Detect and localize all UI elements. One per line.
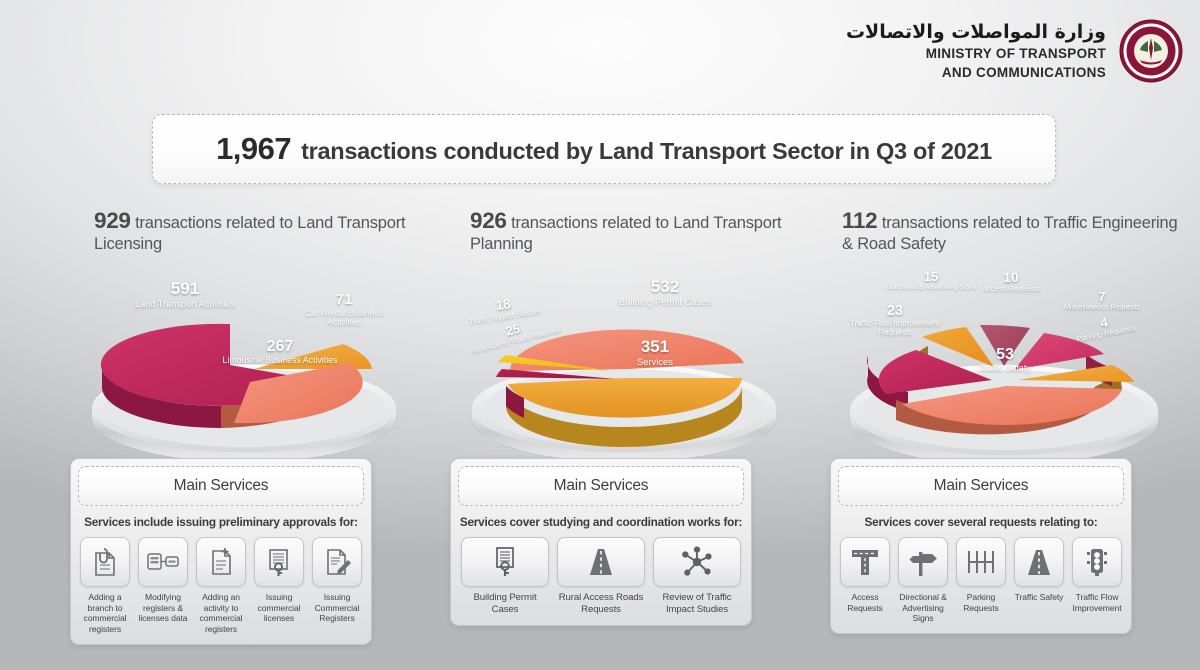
main-services-header: Main Services [458, 466, 744, 506]
qatar-state-emblem-icon [1118, 18, 1184, 84]
building-permit-icon [461, 537, 549, 587]
road-icon [557, 537, 645, 587]
service-item[interactable]: Traffic Flow Improvement [1070, 537, 1124, 624]
document-clip-icon [80, 537, 130, 587]
section-land-transport-planning: 926 transactions related to Land Transpo… [448, 208, 800, 458]
main-services-header: Main Services [78, 466, 364, 506]
traffic-light-icon [1072, 537, 1122, 587]
main-services-panel-planning: Main Services Services cover studying an… [450, 458, 752, 626]
t-junction-icon [840, 537, 890, 587]
service-caption: Modifying registers & licenses data [136, 592, 190, 624]
main-title-banner: 1,967 transactions conducted by Land Tra… [152, 114, 1056, 184]
service-item[interactable]: Adding an activity to commercial registe… [194, 537, 248, 635]
ministry-name-arabic: وزارة المواصلات والاتصالات [846, 22, 1106, 44]
section-heading: 926 transactions related to Land Transpo… [448, 208, 800, 262]
ministry-wordmark: وزارة المواصلات والاتصالات MINISTRY OF T… [846, 22, 1106, 81]
main-services-item-list: Building Permit Cases Rural Access Roads… [458, 537, 744, 616]
service-caption: Adding a branch to commercial registers [78, 592, 132, 635]
main-services-item-list: Adding a branch to commercial registers … [78, 537, 364, 635]
service-caption: Traffic Safety [1012, 592, 1066, 603]
data-edit-icon [138, 537, 188, 587]
section-count: 926 [470, 208, 507, 233]
service-caption: Directional & Advertising Signs [896, 592, 950, 624]
pie-chart-traffic-graphic [828, 268, 1180, 458]
main-title-text: transactions conducted by Land Transport… [301, 138, 992, 165]
service-item[interactable]: Directional & Advertising Signs [896, 537, 950, 624]
signpost-icon [898, 537, 948, 587]
section-land-transport-licensing: 929 transactions related to Land Transpo… [68, 208, 420, 458]
section-description: transactions related to Traffic Engineer… [842, 214, 1177, 253]
total-transactions-number: 1,967 [216, 131, 291, 167]
ministry-header: وزارة المواصلات والاتصالات MINISTRY OF T… [846, 18, 1184, 84]
service-caption: Traffic Flow Improvement [1070, 592, 1124, 613]
main-services-header: Main Services [838, 466, 1124, 506]
infographic-canvas: وزارة المواصلات والاتصالات MINISTRY OF T… [0, 0, 1200, 670]
main-services-subtitle: Services include issuing preliminary app… [78, 515, 364, 529]
section-heading: 112 transactions related to Traffic Engi… [828, 208, 1180, 262]
service-item[interactable]: Issuing Commercial Registers [310, 537, 364, 635]
section-count: 112 [842, 208, 877, 233]
pie-chart-planning-graphic [448, 268, 800, 458]
pie-chart-licensing: 591 Land Transport Activities 71 Car Ren… [68, 268, 420, 458]
service-caption: Building Permit Cases [459, 592, 551, 616]
service-item[interactable]: Issuing commercial licenses [252, 537, 306, 635]
section-count: 929 [94, 208, 131, 233]
ministry-name-english-line2: AND COMMUNICATIONS [846, 65, 1106, 81]
document-plus-icon [196, 537, 246, 587]
network-node-icon [653, 537, 741, 587]
service-item[interactable]: Building Permit Cases [459, 537, 551, 616]
section-heading: 929 transactions related to Land Transpo… [68, 208, 420, 262]
service-caption: Access Requests [838, 592, 892, 613]
service-item[interactable]: Access Requests [838, 537, 892, 624]
service-item[interactable]: Modifying registers & licenses data [136, 537, 190, 635]
ministry-name-english-line1: MINISTRY OF TRANSPORT [846, 46, 1106, 62]
service-item[interactable]: Adding a branch to commercial registers [78, 537, 132, 635]
main-services-panel-licensing: Main Services Services include issuing p… [70, 458, 372, 645]
document-pen-icon [312, 537, 362, 587]
service-caption: Rural Access Roads Requests [555, 592, 647, 616]
parking-bays-icon [956, 537, 1006, 587]
service-caption: Issuing Commercial Registers [310, 592, 364, 624]
main-services-subtitle: Services cover several requests relating… [838, 515, 1124, 529]
service-caption: Issuing commercial licenses [252, 592, 306, 624]
main-services-panel-traffic: Main Services Services cover several req… [830, 458, 1132, 634]
section-description: transactions related to Land Transport P… [470, 214, 781, 253]
main-services-subtitle: Services cover studying and coordination… [458, 515, 744, 529]
service-item[interactable]: Review of Traffic Impact Studies [651, 537, 743, 616]
service-caption: Review of Traffic Impact Studies [651, 592, 743, 616]
service-item[interactable]: Parking Requests [954, 537, 1008, 624]
section-description: transactions related to Land Transport L… [94, 214, 405, 253]
license-key-icon [254, 537, 304, 587]
service-item[interactable]: Traffic Safety [1012, 537, 1066, 624]
service-item[interactable]: Rural Access Roads Requests [555, 537, 647, 616]
road-cone-icon [1014, 537, 1064, 587]
main-services-item-list: Access Requests Directional & Advertisin… [838, 537, 1124, 624]
service-caption: Adding an activity to commercial registe… [194, 592, 248, 635]
pie-chart-traffic: 15 Directional & Advertising Signs 10 Ac… [828, 268, 1180, 458]
section-traffic-engineering-road-safety: 112 transactions related to Traffic Engi… [828, 208, 1180, 458]
service-caption: Parking Requests [954, 592, 1008, 613]
pie-chart-planning: 532 Building Permit Cases 18 Traffic Imp… [448, 268, 800, 458]
pie-chart-licensing-graphic [68, 268, 420, 458]
